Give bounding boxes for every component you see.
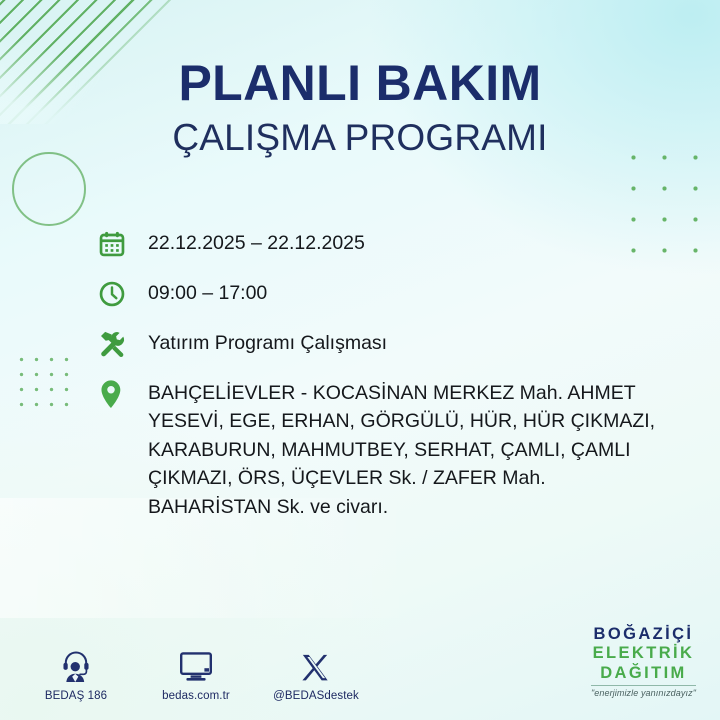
circle-outline-decoration [12,152,86,226]
headset-support-icon [30,645,122,683]
address-line: YESEVİ, EGE, ERHAN, GÖRGÜLÜ, HÜR, HÜR ÇI… [148,407,618,435]
info-row-work-type: Yatırım Programı Çalışması [98,328,638,360]
tools-icon [98,328,132,360]
address-line: BAHÇELİEVLER - KOCASİNAN MERKEZ Mah. AHM… [148,379,618,407]
work-type-text: Yatırım Programı Çalışması [148,328,387,357]
contact-label: bedas.com.tr [150,690,242,702]
calendar-icon [98,228,132,260]
footer-contacts: BEDAŞ 186 bedas.com.tr @BEDASdestek [30,645,362,702]
contact-label: BEDAŞ 186 [30,690,122,702]
location-pin-icon [98,378,132,410]
poster-header: PLANLI BAKIM ÇALIŞMA PROGRAMI [0,58,720,160]
address-line: BAHARİSTAN Sk. ve civarı. [148,493,618,521]
planned-maintenance-poster: PLANLI BAKIM ÇALIŞMA PROGRAMI 22 [0,0,720,720]
x-twitter-icon [270,645,362,683]
contact-label: @BEDASdestek [270,690,362,702]
info-row-time: 09:00 – 17:00 [98,278,638,310]
contact-phone[interactable]: BEDAŞ 186 [30,645,122,702]
dot-grid-decoration-left [12,350,72,410]
brand-line-3: DAĞITIM [591,665,696,682]
address-line: ÇIKMAZI, ÖRS, ÜÇEVLER Sk. / ZAFER Mah. [148,464,618,492]
address-line: KARABURUN, MAHMUTBEY, SERHAT, ÇAMLI, ÇAM… [148,436,618,464]
info-row-date: 22.12.2025 – 22.12.2025 [98,228,638,260]
monitor-icon [150,645,242,683]
date-range-text: 22.12.2025 – 22.12.2025 [148,228,365,257]
brand-line-2: ELEKTRİK [591,645,696,662]
contact-website[interactable]: bedas.com.tr [150,645,242,702]
maintenance-info-block: 22.12.2025 – 22.12.2025 09:00 – 17:00 Ya… [98,228,638,521]
brand-logo: BOĞAZİÇİ ELEKTRİK DAĞITIM "enerjimizle y… [591,626,696,699]
info-row-address: BAHÇELİEVLER - KOCASİNAN MERKEZ Mah. AHM… [98,378,638,521]
brand-line-1: BOĞAZİÇİ [591,626,696,643]
time-range-text: 09:00 – 17:00 [148,278,267,307]
address-text: BAHÇELİEVLER - KOCASİNAN MERKEZ Mah. AHM… [148,378,618,521]
contact-x-twitter[interactable]: @BEDASdestek [270,645,362,702]
clock-icon [98,278,132,310]
page-title: PLANLI BAKIM [0,58,720,109]
brand-tagline: "enerjimizle yanınızdayız" [591,685,696,698]
page-subtitle: ÇALIŞMA PROGRAMI [0,117,720,160]
